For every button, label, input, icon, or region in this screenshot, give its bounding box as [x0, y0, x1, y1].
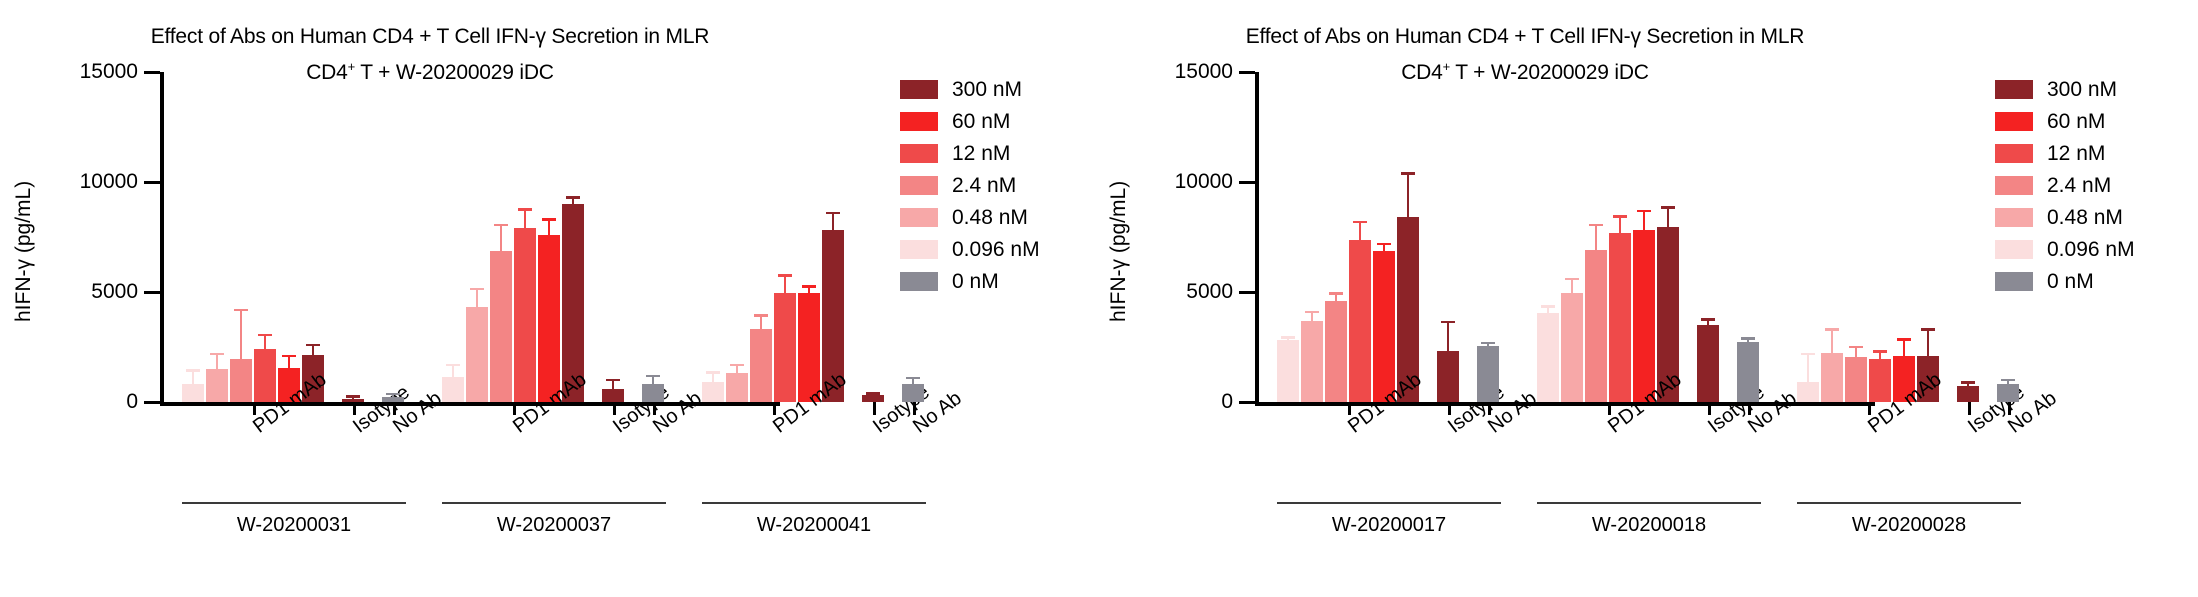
error-bar	[1447, 321, 1449, 352]
bar	[254, 349, 276, 402]
bar	[182, 384, 204, 402]
bar	[1957, 386, 1979, 403]
error-bar-cap	[1921, 328, 1935, 331]
x-axis-tick	[1708, 402, 1711, 415]
x-axis-tick	[393, 402, 396, 415]
bar-rect	[642, 384, 664, 402]
bar-rect	[702, 382, 724, 402]
legend-label: 300 nM	[952, 79, 1022, 100]
error-bar	[1287, 336, 1289, 340]
bar	[514, 228, 536, 402]
bar-rect	[1997, 384, 2019, 402]
legend-item[interactable]: 60 nM	[900, 108, 1040, 134]
bar	[1477, 346, 1499, 402]
error-bar-cap	[1481, 342, 1495, 345]
bar	[1845, 357, 1867, 402]
error-bar	[1487, 342, 1489, 346]
error-bar-cap	[566, 196, 580, 199]
group-rule	[1797, 502, 2021, 504]
bar	[1585, 250, 1607, 402]
error-bar	[1595, 224, 1597, 250]
bar	[1633, 230, 1655, 402]
bar	[862, 395, 884, 402]
error-bar	[1383, 243, 1385, 252]
bar-rect	[514, 228, 536, 402]
bar-rect	[1437, 351, 1459, 402]
group-rule	[442, 502, 666, 504]
x-axis-tick	[253, 402, 256, 415]
error-bar-cap	[1565, 278, 1579, 281]
legend-item[interactable]: 12 nM	[900, 140, 1040, 166]
y-axis-tick	[144, 401, 160, 404]
error-bar	[1619, 215, 1621, 233]
legend-swatch	[1995, 176, 2033, 195]
error-bar-cap	[778, 274, 792, 277]
error-bar	[1311, 311, 1313, 321]
legend-swatch	[900, 144, 938, 163]
error-bar	[264, 334, 266, 349]
error-bar-cap	[446, 364, 460, 367]
bar	[1349, 240, 1371, 402]
x-axis-tick	[873, 402, 876, 415]
error-bar-cap	[542, 218, 556, 221]
bar	[1737, 342, 1759, 403]
bar-rect	[442, 377, 464, 402]
legend-label: 0 nM	[2047, 271, 2094, 292]
bar	[538, 235, 560, 402]
bar-rect	[1633, 230, 1655, 402]
error-bar	[312, 344, 314, 355]
error-bar-cap	[1701, 318, 1715, 321]
error-bar	[452, 364, 454, 377]
bar	[642, 384, 664, 402]
bar-rect	[1349, 240, 1371, 402]
bar	[602, 389, 624, 402]
legend-label: 2.4 nM	[952, 175, 1016, 196]
error-bar-cap	[210, 353, 224, 356]
bar-rect	[1537, 313, 1559, 402]
x-axis-tick	[1488, 402, 1491, 415]
legend-label: 0.48 nM	[2047, 207, 2123, 228]
error-bar	[1667, 206, 1669, 227]
y-axis-tick	[1239, 291, 1255, 294]
error-bar	[1707, 318, 1709, 325]
legend-label: 60 nM	[2047, 111, 2105, 132]
error-bar-cap	[1897, 338, 1911, 341]
bar	[442, 377, 464, 402]
bar	[1325, 301, 1347, 402]
x-axis-tick	[1968, 402, 1971, 415]
error-bar	[476, 288, 478, 308]
error-bar-cap	[826, 212, 840, 215]
legend-label: 0 nM	[952, 271, 999, 292]
bar-rect	[862, 395, 884, 402]
error-bar	[352, 395, 354, 399]
legend-swatch	[1995, 272, 2033, 291]
bar-rect	[1561, 293, 1583, 402]
error-bar	[1407, 172, 1409, 217]
chart-panel-left: Effect of Abs on Human CD4 + T Cell IFN-…	[0, 0, 1100, 597]
bar-rect	[1797, 382, 1819, 402]
group-rule	[702, 502, 926, 504]
bar	[1437, 351, 1459, 402]
legend-item[interactable]: 12 nM	[1995, 140, 2135, 166]
x-axis-tick	[773, 402, 776, 415]
bar	[1609, 233, 1631, 402]
legend-item[interactable]: 2.4 nM	[900, 172, 1040, 198]
bar	[902, 384, 924, 402]
error-bar-cap	[186, 369, 200, 372]
group-label: W-20200018	[1497, 514, 1801, 537]
legend-label: 12 nM	[952, 143, 1010, 164]
error-bar	[760, 314, 762, 329]
error-bar-cap	[306, 344, 320, 347]
bar-rect	[1821, 353, 1843, 403]
bar	[750, 329, 772, 402]
bar	[1537, 313, 1559, 402]
legend-item[interactable]: 0.096 nM	[1995, 236, 2135, 262]
group-rule	[182, 502, 406, 504]
error-bar	[1903, 338, 1905, 356]
error-bar-cap	[1353, 221, 1367, 224]
figure-canvas: Effect of Abs on Human CD4 + T Cell IFN-…	[0, 0, 2198, 597]
error-bar-cap	[706, 371, 720, 374]
error-bar	[912, 377, 914, 385]
bar-rect	[182, 384, 204, 402]
bar	[1821, 353, 1843, 403]
y-axis-tick-label: 0	[28, 391, 138, 412]
bar-rect	[1869, 359, 1891, 402]
bar-rect	[466, 307, 488, 402]
legend-label: 300 nM	[2047, 79, 2117, 100]
error-bar-cap	[1401, 172, 1415, 175]
bar-rect	[902, 384, 924, 402]
bar-rect	[490, 251, 512, 402]
y-axis-label: hIFN-γ (pg/mL)	[12, 181, 36, 322]
legend-item[interactable]: 0.48 nM	[1995, 204, 2135, 230]
bar	[1697, 325, 1719, 402]
group-label: W-20200041	[662, 514, 966, 537]
bars-container: PD1 mAbIsotypeNo AbPD1 mAbIsotypeNo AbPD…	[164, 72, 780, 402]
error-bar	[1335, 292, 1337, 301]
bar	[1277, 340, 1299, 402]
error-bar-cap	[646, 375, 660, 378]
y-axis-tick-label: 15000	[1123, 61, 1233, 82]
legend-label: 0.48 nM	[952, 207, 1028, 228]
error-bar	[872, 392, 874, 395]
x-axis-tick	[513, 402, 516, 415]
error-bar	[832, 212, 834, 231]
group-label: W-20200037	[402, 514, 706, 537]
error-bar-cap	[1613, 215, 1627, 218]
legend-label: 0.096 nM	[952, 239, 1040, 260]
error-bar	[612, 379, 614, 389]
legend-item[interactable]: 60 nM	[1995, 108, 2135, 134]
legend-swatch	[900, 208, 938, 227]
error-bar	[1571, 278, 1573, 293]
error-bar-cap	[1873, 350, 1887, 353]
legend-label: 60 nM	[952, 111, 1010, 132]
error-bar-cap	[470, 288, 484, 291]
bar	[1869, 359, 1891, 402]
error-bar-cap	[234, 309, 248, 312]
plot-area: 050001000015000hIFN-γ (pg/mL)PD1 mAbIsot…	[1255, 72, 1875, 404]
x-axis-tick	[1868, 402, 1871, 415]
error-bar	[1747, 337, 1749, 341]
error-bar-cap	[866, 392, 880, 395]
bar-rect	[1477, 346, 1499, 402]
legend-swatch	[1995, 240, 2033, 259]
legend-item[interactable]: 2.4 nM	[1995, 172, 2135, 198]
legend-swatch	[900, 80, 938, 99]
bar-rect	[1957, 386, 1979, 403]
error-bar-cap	[730, 364, 744, 367]
error-bar	[784, 274, 786, 293]
y-axis-tick	[1239, 401, 1255, 404]
bar-rect	[254, 349, 276, 402]
error-bar	[808, 285, 810, 293]
bar	[1561, 293, 1583, 402]
error-bar	[1807, 353, 1809, 383]
error-bar-cap	[258, 334, 272, 337]
error-bar-cap	[1541, 305, 1555, 308]
chart-legend: 300 nM60 nM12 nM2.4 nM0.48 nM0.096 nM0 n…	[1995, 76, 2135, 300]
error-bar	[1967, 381, 1969, 385]
legend-swatch	[1995, 208, 2033, 227]
bar	[1373, 251, 1395, 402]
bar	[1997, 384, 2019, 402]
y-axis-tick-label: 5000	[1123, 281, 1233, 302]
error-bar-cap	[494, 224, 508, 227]
error-bar	[216, 353, 218, 370]
y-axis-tick	[144, 291, 160, 294]
bar-rect	[206, 369, 228, 402]
bar-rect	[1373, 251, 1395, 402]
error-bar	[2007, 379, 2009, 385]
bar	[466, 307, 488, 402]
legend-swatch	[900, 240, 938, 259]
error-bar	[1547, 305, 1549, 313]
bar-rect	[230, 359, 252, 402]
error-bar	[392, 393, 394, 397]
error-bar-cap	[282, 355, 296, 358]
x-axis-tick	[1748, 402, 1751, 415]
error-bar	[192, 369, 194, 384]
x-axis-tick	[1348, 402, 1351, 415]
error-bar-cap	[802, 285, 816, 288]
error-bar-cap	[1441, 321, 1455, 324]
bar-rect	[750, 329, 772, 402]
plot-area: 050001000015000hIFN-γ (pg/mL)PD1 mAbIsot…	[160, 72, 780, 404]
chart-legend: 300 nM60 nM12 nM2.4 nM0.48 nM0.096 nM0 n…	[900, 76, 1040, 300]
y-axis-tick	[1239, 181, 1255, 184]
error-bar-cap	[906, 377, 920, 380]
bar	[702, 382, 724, 402]
error-bar-cap	[386, 393, 400, 396]
group-rule	[1277, 502, 1501, 504]
y-axis-tick-label: 5000	[28, 281, 138, 302]
x-axis-tick	[613, 402, 616, 415]
bar-rect	[602, 389, 624, 402]
group-rule	[1537, 502, 1761, 504]
bar	[206, 369, 228, 402]
y-axis-tick-label: 10000	[28, 171, 138, 192]
y-axis-tick	[144, 71, 160, 74]
error-bar	[572, 196, 574, 204]
x-axis-tick	[913, 402, 916, 415]
error-bar-cap	[1661, 206, 1675, 209]
error-bar-cap	[1589, 224, 1603, 227]
legend-label: 2.4 nM	[2047, 175, 2111, 196]
bar	[490, 251, 512, 402]
legend-item[interactable]: 300 nM	[1995, 76, 2135, 102]
x-axis-tick	[653, 402, 656, 415]
legend-swatch	[1995, 80, 2033, 99]
error-bar-cap	[1825, 328, 1839, 331]
error-bar-cap	[518, 208, 532, 211]
error-bar	[1879, 350, 1881, 359]
error-bar	[500, 224, 502, 252]
y-axis-label: hIFN-γ (pg/mL)	[1107, 181, 1131, 322]
legend-item[interactable]: 0 nM	[1995, 268, 2135, 294]
y-axis-tick-label: 15000	[28, 61, 138, 82]
chart-title: Effect of Abs on Human CD4 + T Cell IFN-…	[0, 22, 860, 52]
legend-swatch	[900, 112, 938, 131]
group-label: W-20200028	[1757, 514, 2061, 537]
error-bar-cap	[1377, 243, 1391, 246]
bar-rect	[1301, 321, 1323, 402]
group-label: W-20200017	[1237, 514, 1541, 537]
error-bar	[548, 218, 550, 235]
bar	[774, 293, 796, 402]
error-bar-cap	[606, 379, 620, 382]
error-bar	[288, 355, 290, 368]
error-bar	[712, 371, 714, 382]
y-axis-tick	[1239, 71, 1255, 74]
bar	[230, 359, 252, 402]
x-axis-tick	[1608, 402, 1611, 415]
error-bar-cap	[1849, 346, 1863, 349]
error-bar	[1643, 210, 1645, 231]
y-axis-tick	[144, 181, 160, 184]
error-bar-cap	[1637, 210, 1651, 213]
bar-rect	[726, 373, 748, 402]
bar	[1797, 382, 1819, 402]
error-bar-cap	[1281, 336, 1295, 339]
bar	[726, 373, 748, 402]
error-bar	[1359, 221, 1361, 241]
x-axis-tick	[1448, 402, 1451, 415]
bars-container: PD1 mAbIsotypeNo AbPD1 mAbIsotypeNo AbPD…	[1259, 72, 1875, 402]
error-bar-cap	[1741, 337, 1755, 340]
error-bar-cap	[2001, 379, 2015, 382]
legend-label: 12 nM	[2047, 143, 2105, 164]
error-bar	[1855, 346, 1857, 357]
bar-rect	[1697, 325, 1719, 402]
legend-label: 0.096 nM	[2047, 239, 2135, 260]
bar-rect	[1585, 250, 1607, 402]
error-bar	[736, 364, 738, 374]
chart-panel-right: Effect of Abs on Human CD4 + T Cell IFN-…	[1095, 0, 2198, 597]
error-bar-cap	[1329, 292, 1343, 295]
error-bar-cap	[346, 395, 360, 398]
error-bar	[652, 375, 654, 385]
bar-rect	[538, 235, 560, 402]
x-axis-tick	[353, 402, 356, 415]
group-label: W-20200031	[142, 514, 446, 537]
bar-rect	[1737, 342, 1759, 403]
error-bar	[524, 208, 526, 228]
legend-item[interactable]: 0.096 nM	[900, 236, 1040, 262]
error-bar	[1831, 328, 1833, 352]
error-bar-cap	[1801, 353, 1815, 356]
bar-rect	[1277, 340, 1299, 402]
legend-item[interactable]: 0 nM	[900, 268, 1040, 294]
error-bar	[240, 309, 242, 360]
legend-swatch	[900, 272, 938, 291]
error-bar-cap	[1961, 381, 1975, 384]
error-bar-cap	[754, 314, 768, 317]
legend-swatch	[900, 176, 938, 195]
legend-item[interactable]: 300 nM	[900, 76, 1040, 102]
bar-rect	[1325, 301, 1347, 402]
x-axis-tick	[2008, 402, 2011, 415]
bar-rect	[1609, 233, 1631, 402]
bar-rect	[774, 293, 796, 402]
chart-title: Effect of Abs on Human CD4 + T Cell IFN-…	[1095, 22, 1955, 52]
legend-swatch	[1995, 112, 2033, 131]
bar	[1301, 321, 1323, 402]
legend-item[interactable]: 0.48 nM	[900, 204, 1040, 230]
error-bar-cap	[1305, 311, 1319, 314]
y-axis-tick-label: 10000	[1123, 171, 1233, 192]
error-bar	[1927, 328, 1929, 356]
y-axis-tick-label: 0	[1123, 391, 1233, 412]
bar-rect	[1845, 357, 1867, 402]
legend-swatch	[1995, 144, 2033, 163]
